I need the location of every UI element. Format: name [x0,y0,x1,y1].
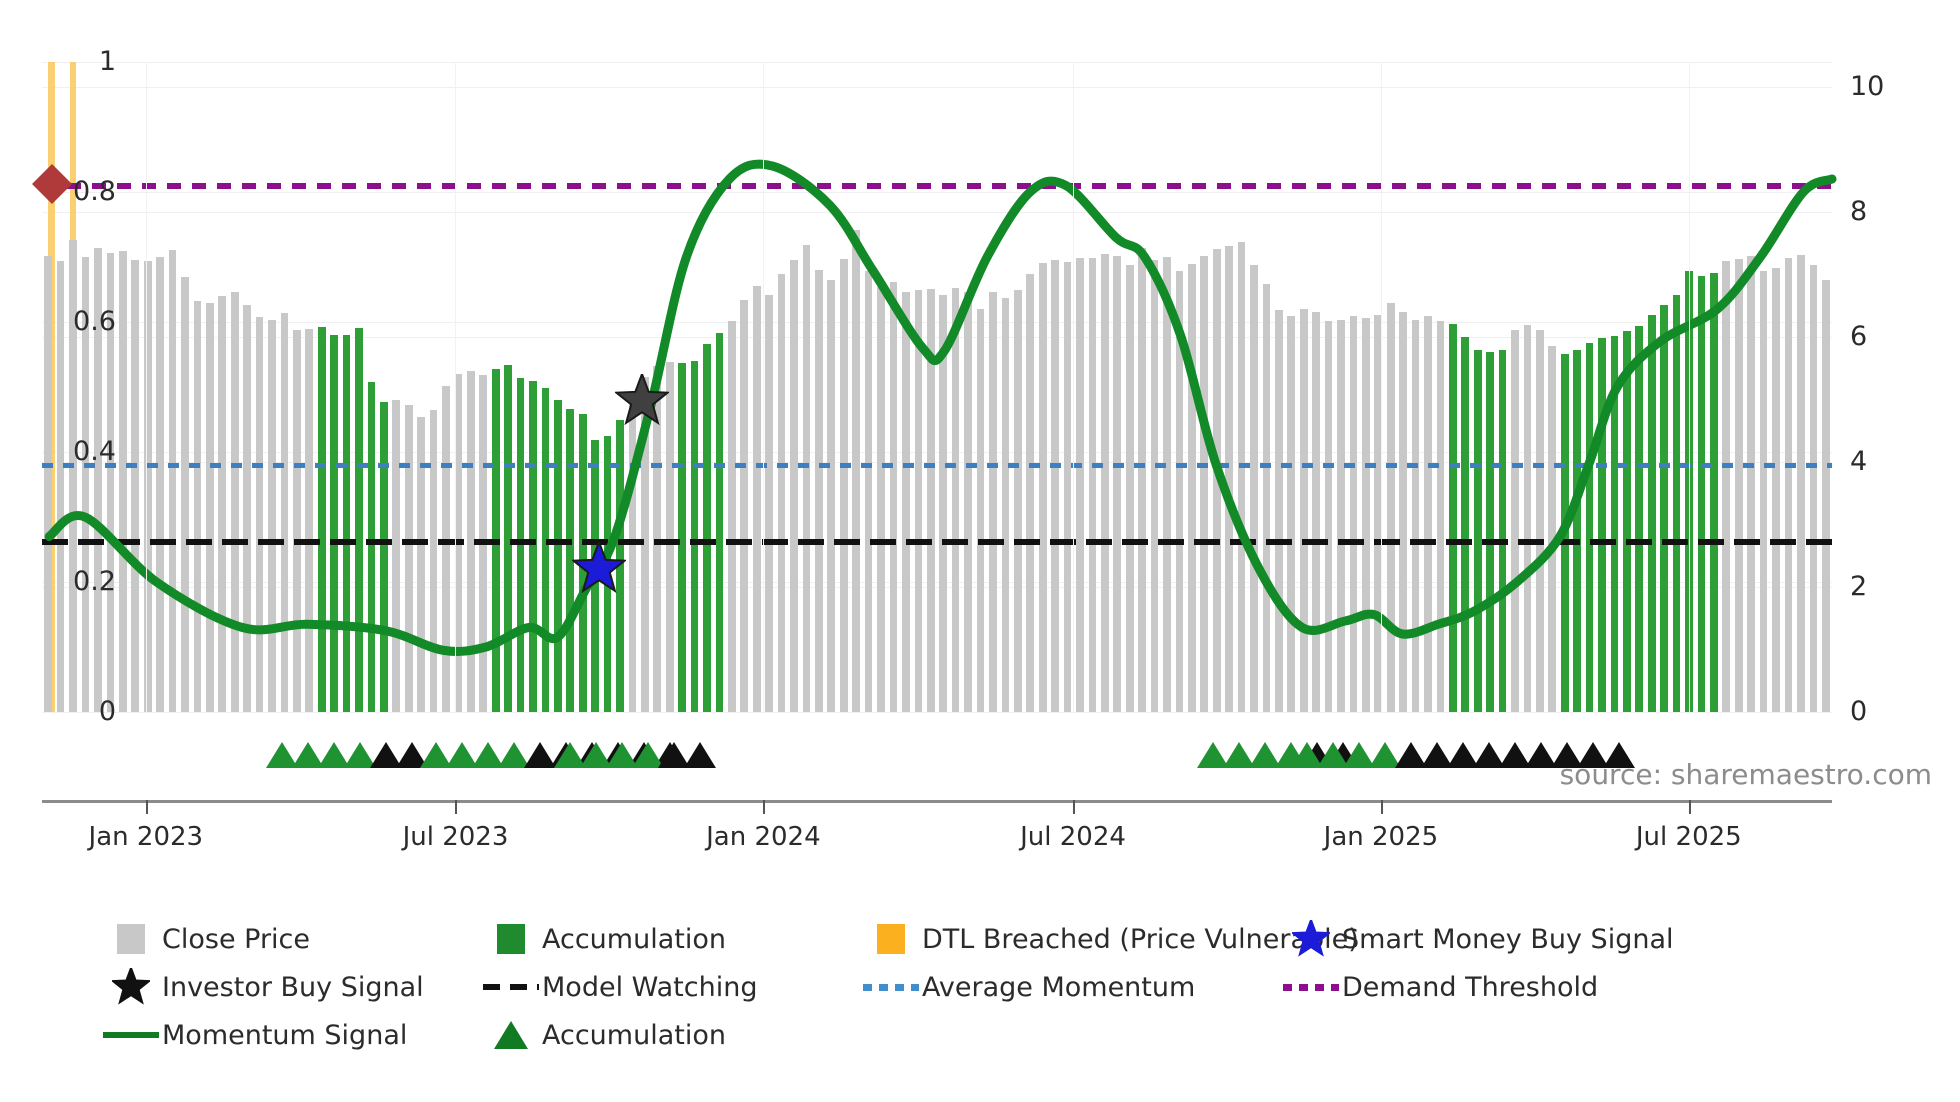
x-axis-tick-label: Jul 2024 [1020,822,1126,852]
legend-square-swatch [100,920,162,958]
x-tick-mark [1073,800,1075,814]
legend-square-swatch [860,920,922,958]
right-axis-tick-label: 4 [1850,448,1867,475]
momentum-signal-path [49,164,1832,651]
x-tick-mark [1689,800,1691,814]
legend-label: Average Momentum [922,972,1195,1003]
legend-label: Accumulation [542,924,726,955]
legend-item[interactable]: Close Price [100,920,310,958]
x-axis-tick-label: Jul 2023 [403,822,509,852]
right-axis-tick-label: 6 [1850,323,1867,350]
legend-solid-line-swatch [100,1016,162,1054]
x-tick-mark [1381,800,1383,814]
legend-label: Smart Money Buy Signal [1342,924,1674,955]
x-tick-mark [763,800,765,814]
legend-item[interactable]: Smart Money Buy Signal [1280,920,1674,958]
legend-item[interactable]: Accumulation [480,920,726,958]
right-axis-tick-label: 10 [1850,73,1884,100]
left-axis-tick-label: 0.4 [73,438,116,465]
legend-dashed-line-swatch [480,968,542,1006]
right-axis-tick-label: 0 [1850,698,1867,725]
x-gridline [1073,62,1074,712]
legend-square-swatch [480,920,542,958]
right-axis-tick-label: 8 [1850,198,1867,225]
legend-row: Close PriceAccumulationDTL Breached (Pri… [100,920,1900,964]
legend-triangle-icon [480,1016,542,1054]
legend-item[interactable]: Average Momentum [860,968,1195,1006]
source-note: source: sharemaestro.com [1560,758,1932,791]
legend-label: Close Price [162,924,310,955]
chart-legend: Close PriceAccumulationDTL Breached (Pri… [100,920,1900,1064]
legend-dotted-blue-swatch [860,968,922,1006]
x-axis-tick-label: Jan 2025 [1324,822,1439,852]
legend-row: Momentum SignalAccumulation [100,1016,1900,1060]
x-gridline [763,62,764,712]
legend-item[interactable]: Model Watching [480,968,757,1006]
gridline [42,712,1832,713]
legend-row: Investor Buy SignalModel WatchingAverage… [100,968,1900,1012]
momentum-signal-line [42,62,1832,712]
plot-area [42,62,1832,712]
plot-inner [42,62,1832,712]
legend-item[interactable]: Investor Buy Signal [100,968,424,1006]
x-gridline [1381,62,1382,712]
legend-label: Demand Threshold [1342,972,1598,1003]
chart-root: 00.20.40.60.81 0246810 Jan 2023Jul 2023J… [0,0,1960,1102]
demand-threshold-diamond-icon [30,162,74,210]
left-axis-tick-label: 0 [99,698,116,725]
right-axis-tick-label: 2 [1850,573,1867,600]
x-gridline [1689,62,1690,712]
legend-label: Momentum Signal [162,1020,407,1051]
left-axis-tick-label: 0.6 [73,308,116,335]
legend-label: Model Watching [542,972,757,1003]
left-axis-tick-label: 1 [99,48,116,75]
legend-star-icon [1280,920,1342,958]
legend-item[interactable]: Accumulation [480,1016,726,1054]
x-tick-mark [146,800,148,814]
left-axis-tick-label: 0.2 [73,568,116,595]
legend-item[interactable]: Demand Threshold [1280,968,1598,1006]
x-axis-tick-label: Jan 2023 [89,822,204,852]
x-tick-mark [455,800,457,814]
x-gridline [455,62,456,712]
x-gridline [146,62,147,712]
legend-star-icon [100,968,162,1006]
left-axis-tick-label: 0.8 [73,178,116,205]
legend-item[interactable]: Momentum Signal [100,1016,407,1054]
x-axis-tick-label: Jan 2024 [706,822,821,852]
legend-dotted-purple-swatch [1280,968,1342,1006]
legend-label: Accumulation [542,1020,726,1051]
x-axis-line [42,800,1832,803]
accumulation-triangle-black-icon [684,742,716,768]
x-axis-tick-label: Jul 2025 [1636,822,1742,852]
legend-label: Investor Buy Signal [162,972,424,1003]
